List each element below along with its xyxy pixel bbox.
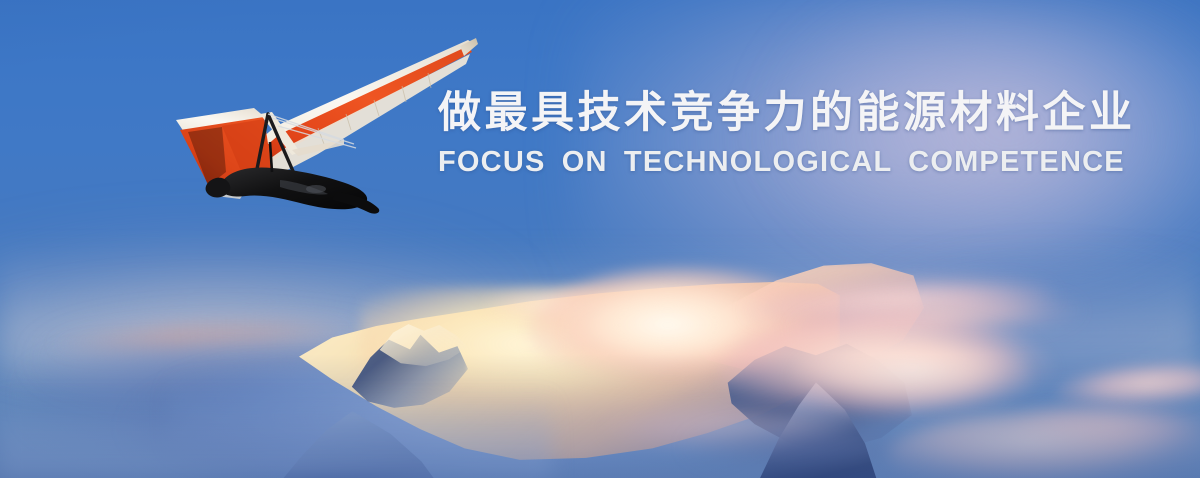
banner-text-block: 做最具技术竞争力的能源材料企业 FOCUS ON TECHNOLOGICAL C… <box>438 86 1198 180</box>
foreground-snow-left <box>0 392 552 478</box>
glider-pilot <box>206 168 380 214</box>
banner-headline-chinese: 做最具技术竞争力的能源材料企业 <box>438 86 1198 140</box>
banner-headline-english: FOCUS ON TECHNOLOGICAL COMPETENCE <box>438 146 1198 180</box>
hero-banner: 做最具技术竞争力的能源材料企业 FOCUS ON TECHNOLOGICAL C… <box>0 0 1200 478</box>
